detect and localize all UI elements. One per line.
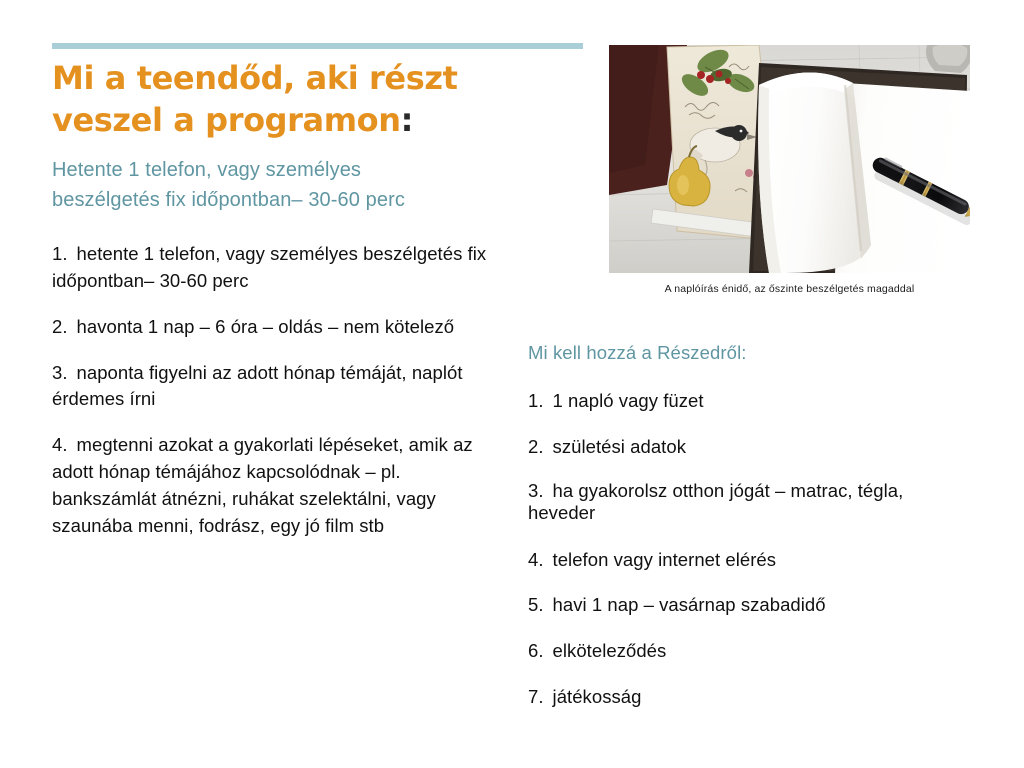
list-item: 5.havi 1 nap – vasárnap szabadidő <box>528 592 943 619</box>
slide-canvas: Mi a teendőd, aki részt veszel a program… <box>0 0 1024 768</box>
list-item-number: 4. <box>528 549 544 570</box>
right-content-column: Mi kell hozzá a Részedről: 1.1 napló vag… <box>528 340 953 711</box>
right-column-heading: Mi kell hozzá a Részedről: <box>528 340 953 366</box>
list-item-number: 1. <box>52 243 68 264</box>
list-item: 1.hetente 1 telefon, vagy személyes besz… <box>52 241 504 295</box>
list-item: 3.ha gyakorolsz otthon jógát – matrac, t… <box>528 480 943 525</box>
list-item: 2.születési adatok <box>528 434 943 461</box>
list-item: 6.elköteleződés <box>528 638 943 665</box>
left-content-column: Mi a teendőd, aki részt veszel a program… <box>52 58 522 540</box>
list-item-number: 2. <box>52 316 68 337</box>
list-item: 4.telefon vagy internet elérés <box>528 547 943 574</box>
page-title: Mi a teendőd, aki részt veszel a program… <box>52 58 522 141</box>
accent-rule-divider <box>52 43 583 49</box>
list-item-text: megtenni azokat a gyakorlati lépéseket, … <box>52 434 473 535</box>
list-item: 2.havonta 1 nap – 6 óra – oldás – nem kö… <box>52 314 504 341</box>
page-title-text: Mi a teendőd, aki részt veszel a program… <box>52 59 458 139</box>
list-item-number: 1. <box>528 390 544 411</box>
list-item-text: születési adatok <box>553 436 686 457</box>
list-item: 4.megtenni azokat a gyakorlati lépéseket… <box>52 432 504 539</box>
list-item: 3.naponta figyelni az adott hónap témájá… <box>52 360 504 414</box>
list-item-number: 7. <box>528 686 544 707</box>
list-item-number: 4. <box>52 434 68 455</box>
list-item-text: elköteleződés <box>553 640 667 661</box>
list-item-number: 3. <box>528 480 544 501</box>
list-item-text: 1 napló vagy füzet <box>553 390 704 411</box>
page-title-colon: : <box>401 101 413 139</box>
list-item-text: ha gyakorolsz otthon jógát – matrac, tég… <box>528 480 903 524</box>
list-item: 7.játékosság <box>528 684 943 711</box>
left-numbered-list: 1.hetente 1 telefon, vagy személyes besz… <box>52 241 522 539</box>
list-item: 1.1 napló vagy füzet <box>528 388 943 415</box>
list-item-text: naponta figyelni az adott hónap témáját,… <box>52 362 463 410</box>
photo-caption: A naplóírás énidő, az őszinte beszélgeté… <box>609 283 970 297</box>
list-item-number: 3. <box>52 362 68 383</box>
list-item-text: telefon vagy internet elérés <box>553 549 777 570</box>
list-item-text: havi 1 nap – vasárnap szabadidő <box>553 594 826 615</box>
list-item-text: játékosság <box>553 686 642 707</box>
notebook-photo-graphic <box>609 45 970 273</box>
list-item-text: havonta 1 nap – 6 óra – oldás – nem köte… <box>77 316 455 337</box>
list-item-number: 6. <box>528 640 544 661</box>
notebook-photo <box>609 45 970 273</box>
list-item-number: 2. <box>528 436 544 457</box>
subtitle-text: Hetente 1 telefon, vagy személyes beszél… <box>52 155 432 215</box>
list-item-number: 5. <box>528 594 544 615</box>
list-item-text: hetente 1 telefon, vagy személyes beszél… <box>52 243 486 291</box>
right-numbered-list: 1.1 napló vagy füzet 2.születési adatok … <box>528 388 953 711</box>
